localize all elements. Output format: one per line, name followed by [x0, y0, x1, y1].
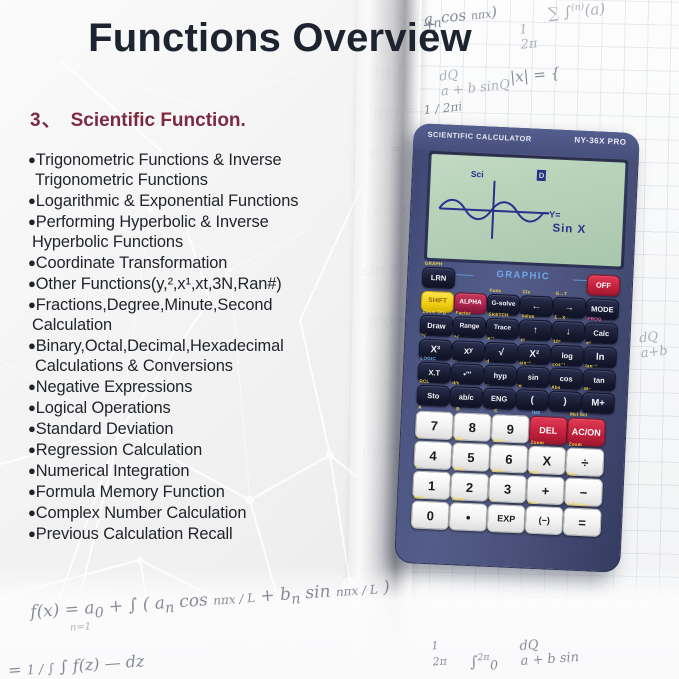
list-item: ●Logarithmic & Exponential Functions	[28, 191, 368, 211]
infographic-page: ∑ ( ancos nπx) ∑ ∫(n)(a) x = -b ± 12π 2π…	[0, 0, 679, 679]
list-item: ●Logical Operations	[28, 398, 368, 418]
key-label: 6	[505, 452, 513, 465]
list-item-text: Numerical Integration	[36, 462, 190, 480]
key-label: X²	[529, 349, 539, 359]
lcd-angle-badge: D	[537, 170, 547, 181]
key-secondary-label: Func	[489, 288, 501, 294]
lcd-bezel: Sci D Y= Sin X	[424, 151, 629, 270]
key-label: tan	[593, 376, 605, 384]
key-label: G-solve	[491, 301, 515, 309]
key-label: 0	[426, 509, 434, 522]
list-item: ●Performing Hyperbolic & InverseHyperbol…	[28, 212, 368, 252]
list-item: ●Complex Number Calculation	[28, 503, 368, 523]
key-secondary-label: ←	[453, 357, 458, 362]
key-label: Sto	[427, 392, 439, 400]
key-secondary-label: π	[490, 498, 494, 503]
key-secondary-label: Rec	[567, 471, 576, 476]
calculator-device: SCIENTIFIC CALCULATOR NY-36X PRO Sci D Y…	[394, 123, 640, 573]
key-label: X³	[430, 345, 440, 355]
list-item: ●Trigonometric Functions & InverseTrigon…	[28, 150, 368, 190]
key-label: ↓	[566, 327, 571, 337]
bullet-dot-icon: ●	[28, 193, 36, 208]
key-secondary-label: SIN⁻¹	[493, 438, 506, 445]
key-lrn[interactable]: LRN	[422, 267, 456, 289]
section-title: Scientific Function.	[71, 110, 246, 131]
key-m[interactable]: M+	[581, 392, 615, 414]
list-item-text: Binary,Octal,Decimal,Hexadecimal	[36, 337, 284, 355]
list-item: ●Numerical Integration	[28, 461, 368, 481]
bullet-dot-icon: ●	[28, 379, 36, 394]
key-ab-c[interactable]: ab/c	[449, 386, 483, 408]
list-item-text: Fractions,Degree,Minute,Second	[36, 296, 273, 314]
list-item: ●Fractions,Degree,Minute,SecondCalculati…	[28, 295, 368, 335]
list-item-text: Previous Calculation Recall	[36, 525, 233, 543]
list-item-text: Negative Expressions	[36, 378, 193, 396]
key-secondary-label: ←	[485, 382, 490, 387]
key-secondary-label: A	[418, 405, 422, 410]
key-secondary-label: ˣ√	[454, 334, 459, 339]
key-sto[interactable]: Sto	[416, 385, 450, 407]
key-label: √	[498, 348, 504, 358]
lcd-y-label: Y=	[549, 209, 561, 220]
key-label: •	[466, 510, 471, 523]
key-off[interactable]: OFF	[586, 274, 620, 296]
key-label: xʸ	[464, 346, 473, 356]
key-label: DEL	[539, 426, 557, 436]
list-item-text: Performing Hyperbolic & Inverse	[36, 213, 269, 231]
key-label: ←	[531, 301, 541, 311]
key-secondary-label: M−	[584, 386, 591, 391]
key-label: 5	[467, 450, 475, 463]
key-secondary-label: d/c	[452, 380, 459, 385]
key-secondary-label: ³√	[421, 333, 426, 338]
key-secondary-label: C	[494, 408, 498, 413]
key-label: ENG	[491, 395, 508, 403]
key-label: −	[579, 486, 587, 499]
key-label: X.T	[428, 369, 440, 377]
lcd-sine-graph	[436, 176, 555, 243]
list-item-text: Standard Deviation	[36, 420, 174, 438]
key-label: +	[541, 484, 549, 497]
key-label: 3	[504, 482, 512, 495]
key-[interactable]: •	[449, 502, 488, 532]
list-item-text: Other Functions(y,²,x¹,xt,3N,Ran#)	[36, 275, 282, 293]
key-secondary-label: COS	[453, 466, 464, 471]
list-item-text-continued: Trigonometric Functions	[28, 170, 368, 190]
background-bottom-band	[0, 567, 679, 679]
key-secondary-label: B	[456, 406, 460, 411]
list-item-text: Coordinate Transformation	[36, 254, 228, 272]
key-eng[interactable]: ENG	[482, 388, 516, 410]
key-label: ÷	[581, 456, 589, 469]
key-label: 4	[429, 449, 437, 462]
key-secondary-label: sin⁻¹	[519, 360, 531, 367]
key-label: (	[530, 395, 534, 405]
key-secondary-label: Value	[521, 313, 534, 319]
key-label: 8	[468, 420, 476, 433]
section-number: 3、	[30, 110, 62, 131]
bullet-dot-icon: ●	[28, 484, 36, 499]
key-label: OFF	[596, 281, 611, 289]
key-7[interactable]: 7	[415, 410, 454, 440]
key-secondary-label: π	[518, 383, 522, 388]
page-title: Functions Overview	[0, 16, 560, 61]
key-secondary-label: Y	[417, 435, 420, 440]
key-label: =	[578, 515, 586, 528]
bullet-dot-icon: ●	[28, 526, 36, 541]
key-secondary-label: Zoom	[531, 440, 545, 446]
key-secondary-label: G↔T	[555, 291, 567, 297]
feature-list: ●Trigonometric Functions & InverseTrigon…	[28, 150, 368, 545]
section-heading: 3、Scientific Function.	[30, 105, 246, 132]
key-label: M+	[591, 398, 605, 408]
key-secondary-label: Rnd	[414, 494, 424, 499]
key-[interactable]: (	[515, 389, 549, 411]
list-item: ●Regression Calculation	[28, 440, 368, 460]
bullet-dot-icon: ●	[28, 400, 36, 415]
key-[interactable]: =	[563, 507, 602, 537]
key-label: (−)	[538, 516, 550, 526]
key-secondary-label: SKETCH	[488, 312, 508, 318]
list-item-text-continued: Calculation	[28, 315, 368, 335]
key-secondary-label: cos⁻¹	[552, 362, 565, 369]
key-[interactable]: )	[548, 391, 582, 413]
list-item-text: Formula Memory Function	[36, 483, 225, 501]
key-label: X	[542, 454, 551, 467]
key-0[interactable]: 0	[411, 500, 450, 530]
bullet-dot-icon: ●	[28, 214, 36, 229]
key-secondary-label: SIN	[455, 436, 463, 441]
key-secondary-label: LOGIC	[420, 356, 436, 362]
key-label: LRN	[431, 274, 447, 282]
list-item: ●Other Functions(y,²,x¹,xt,3N,Ran#)	[28, 274, 368, 294]
key-label: sin	[528, 373, 539, 381]
key-secondary-label: % Brestin	[566, 501, 589, 507]
key-exp[interactable]: EXP	[487, 504, 526, 534]
list-item-text: Logarithmic & Exponential Functions	[36, 192, 299, 210]
list-item-text-continued: Calculations & Conversions	[28, 356, 368, 376]
key-label: hyp	[493, 372, 507, 380]
key-secondary-label: Factor	[455, 310, 470, 316]
key-label: →	[564, 303, 574, 313]
list-item: ●Previous Calculation Recall	[28, 524, 368, 544]
key-label: ln	[596, 352, 605, 362]
lcd-function-expression: Sin X	[552, 222, 586, 236]
key-secondary-label: Zoom Org	[422, 309, 446, 315]
key-label: 1	[428, 479, 436, 492]
list-item: ●Negative Expressions	[28, 377, 368, 397]
key-label: 9	[506, 422, 514, 435]
key-label: SHIFT	[428, 298, 447, 305]
list-item: ●Formula Memory Function	[28, 482, 368, 502]
key-label: MODE	[591, 305, 614, 314]
key-secondary-label: COS⁻¹	[491, 468, 506, 475]
list-item-text: Logical Operations	[36, 399, 171, 417]
key-secondary-label: GRAPH	[425, 261, 443, 267]
key-secondary-label: Σ↔Χ	[554, 315, 565, 320]
key-label: Calc	[593, 329, 609, 337]
key-label: )	[563, 397, 567, 407]
key-label: Range	[459, 324, 479, 331]
key-secondary-label: Cls	[522, 289, 530, 294]
key-label: 2	[466, 480, 474, 493]
key-[interactable]: (−)	[525, 506, 564, 536]
list-item-text: Regression Calculation	[36, 441, 202, 459]
key-secondary-label: Mcl Scl	[570, 411, 587, 417]
bullet-dot-icon: ●	[28, 255, 36, 270]
key-secondary-label: Abs	[551, 385, 560, 390]
list-item-text: Complex Number Calculation	[36, 504, 247, 522]
list-item: ●Coordinate Transformation	[28, 253, 368, 273]
key-secondary-label: Zoom	[569, 441, 583, 447]
key-label: Trace	[494, 325, 511, 332]
bullet-dot-icon: ●	[28, 276, 36, 291]
key-secondary-label: 10ˣ	[553, 339, 561, 344]
key-secondary-label: RCL	[419, 379, 429, 384]
key-secondary-label: POL	[529, 470, 539, 475]
list-item: ●Standard Deviation	[28, 419, 368, 439]
key-label: AC/ON	[572, 427, 601, 437]
bullet-dot-icon: ●	[28, 338, 36, 353]
key-secondary-label: eˣ	[586, 340, 591, 345]
key-secondary-label: PROG	[587, 316, 602, 322]
key-label: •′″	[463, 370, 471, 378]
key-4[interactable]: 4	[413, 440, 452, 470]
key-label: Draw	[427, 322, 446, 330]
key-label: log	[561, 352, 573, 360]
key-secondary-label: Ran#	[452, 496, 464, 502]
key-secondary-label: Z	[415, 465, 418, 470]
key-secondary-label: x!	[520, 337, 525, 342]
key-secondary-label: INS	[532, 410, 540, 415]
key-label: ↑	[533, 325, 538, 335]
bullet-dot-icon: ●	[28, 505, 36, 520]
bullet-dot-icon: ●	[28, 152, 36, 167]
bullet-dot-icon: ●	[28, 297, 36, 312]
key-label: ALPHA	[459, 300, 482, 308]
list-item: ●Binary,Octal,Decimal,HexadecimalCalcula…	[28, 336, 368, 376]
key-secondary-label: d	[486, 359, 489, 364]
key-label: EXP	[497, 514, 515, 524]
graphic-label: GRAPHIC	[471, 268, 575, 284]
lcd-screen: Sci D Y= Sin X	[427, 154, 626, 267]
list-item-text-continued: Hyperbolic Functions	[28, 232, 368, 252]
bullet-dot-icon: ●	[28, 442, 36, 457]
bullet-dot-icon: ●	[28, 463, 36, 478]
key-label: ab/c	[459, 393, 474, 401]
list-item-text: Trigonometric Functions & Inverse	[36, 151, 282, 169]
bullet-dot-icon: ●	[28, 421, 36, 436]
key-secondary-label: x⁻¹	[487, 336, 494, 342]
key-secondary-label: tan⁻¹	[585, 363, 597, 370]
key-secondary-label: Ans	[528, 500, 537, 505]
key-label: 7	[430, 419, 438, 432]
key-label: cos	[560, 375, 573, 383]
